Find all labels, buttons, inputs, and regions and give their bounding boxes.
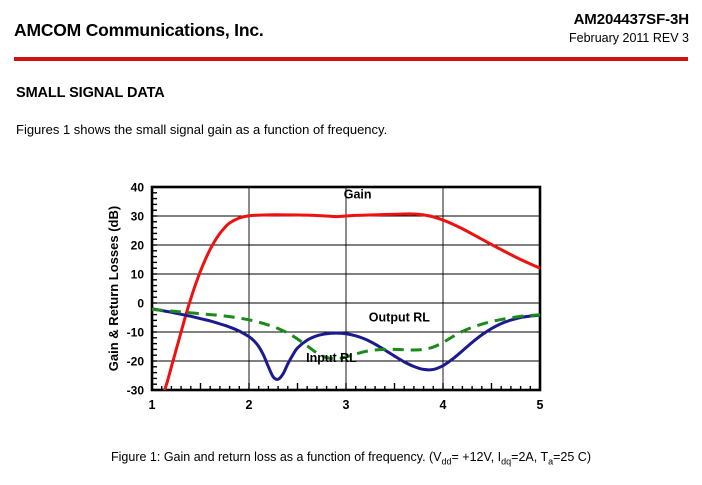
section-description: Figures 1 shows the small signal gain as… [16, 122, 387, 137]
section-title: SMALL SIGNAL DATA [16, 85, 165, 101]
axis-tick-label-y: 40 [131, 181, 145, 195]
axis-tick-label-x: 1 [149, 398, 156, 412]
caption-mid2: =2A, T [511, 450, 548, 464]
caption-subscript-idq: dq [501, 457, 511, 467]
chart-annotation-input-rl: Input RL [306, 351, 357, 365]
header-divider-rule [14, 57, 688, 61]
axis-tick-label-x: 4 [440, 398, 447, 412]
axis-tick-label-y: -30 [127, 384, 145, 398]
chart-gain-return-loss: -30-20-1001020304012345Frequency (GHz)Ga… [104, 170, 564, 415]
axis-tick-label-y: -10 [127, 326, 145, 340]
axis-tick-label-x: 2 [246, 398, 253, 412]
chart-annotation-output-rl: Output RL [369, 311, 430, 325]
figure-caption: Figure 1: Gain and return loss as a func… [0, 450, 702, 467]
series-line-gain [162, 214, 540, 399]
axis-title-y: Gain & Return Losses (dB) [106, 206, 121, 371]
caption-prefix: Figure 1: Gain and return loss as a func… [111, 450, 442, 464]
figure-block: -30-20-1001020304012345Frequency (GHz)Ga… [0, 170, 702, 420]
axis-tick-label-x: 3 [343, 398, 350, 412]
caption-mid1: = +12V, I [452, 450, 502, 464]
axis-tick-label-y: 30 [131, 210, 145, 224]
document-revision: February 2011 REV 3 [569, 31, 689, 45]
axis-tick-label-y: -20 [127, 355, 145, 369]
axis-tick-label-y: 10 [131, 268, 145, 282]
caption-suffix: =25 C) [553, 450, 591, 464]
axis-tick-label-y: 0 [137, 297, 144, 311]
part-number: AM204437SF-3H [574, 11, 689, 28]
chart-svg: -30-20-1001020304012345Frequency (GHz)Ga… [104, 170, 564, 415]
axis-tick-label-y: 20 [131, 239, 145, 253]
axis-tick-label-x: 5 [537, 398, 544, 412]
chart-annotation-gain: Gain [344, 187, 372, 201]
caption-subscript-vdd: dd [442, 457, 452, 467]
company-name: AMCOM Communications, Inc. [14, 20, 264, 41]
page-header: AMCOM Communications, Inc. AM204437SF-3H… [0, 0, 702, 56]
